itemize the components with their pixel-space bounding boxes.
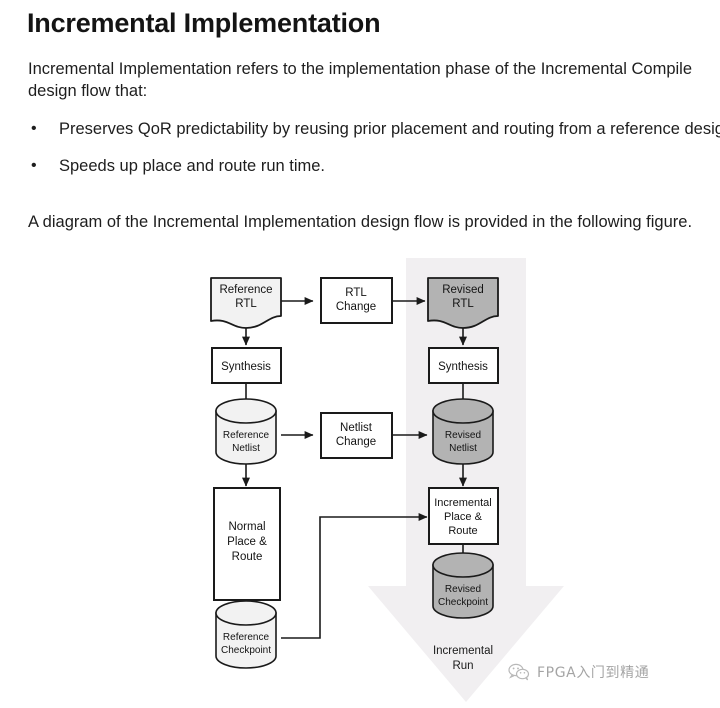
node-label-line1: Reference (223, 430, 270, 441)
node-label-line2: RTL (235, 298, 257, 310)
node-reference-checkpoint[interactable]: Reference Checkpoint (216, 601, 276, 668)
watermark: FPGA入门到精通 (508, 662, 649, 682)
node-label-line1: Reference (223, 632, 270, 643)
node-label-line2: Place & (444, 511, 483, 523)
node-label-line2: RTL (452, 298, 474, 310)
node-label-line1: RTL (345, 287, 367, 299)
node-label-line3: Route (232, 551, 263, 563)
list-item: • Preserves QoR predictability by reusin… (28, 118, 720, 140)
node-synthesis-right[interactable]: Synthesis (429, 348, 498, 383)
bullet-marker-icon: • (31, 155, 37, 177)
node-label-line1: Revised (442, 284, 484, 296)
flow-diagram: Reference RTL RTL Change Revised RTL Syn… (0, 258, 720, 708)
node-label-line1: Synthesis (221, 361, 271, 373)
node-label-line1: Reference (219, 284, 272, 296)
node-incremental-place-and-route[interactable]: Incremental Place & Route (429, 488, 498, 544)
intro-paragraph: Incremental Implementation refers to the… (28, 58, 720, 102)
page-title: Incremental Implementation (27, 8, 380, 39)
band-caption-line2: Run (452, 660, 473, 672)
closing-paragraph: A diagram of the Incremental Implementat… (28, 211, 720, 233)
node-label-line2: Change (336, 301, 376, 313)
node-label-line2: Netlist (232, 443, 260, 454)
node-label-line1: Normal (228, 521, 265, 533)
node-label-line2: Checkpoint (221, 645, 271, 656)
node-label-line3: Route (448, 525, 477, 537)
list-item: • Speeds up place and route run time. (28, 155, 720, 177)
node-reference-rtl[interactable]: Reference RTL (211, 278, 281, 328)
bullet-marker-icon: • (31, 118, 37, 140)
bullet-text: Preserves QoR predictability by reusing … (59, 118, 720, 140)
node-label-line2: Netlist (449, 443, 477, 454)
watermark-text: FPGA入门到精通 (537, 662, 649, 682)
node-synthesis-left[interactable]: Synthesis (212, 348, 281, 383)
node-label-line1: Synthesis (438, 361, 488, 373)
node-label-line2: Place & (227, 536, 267, 548)
node-label-line1: Incremental (434, 497, 491, 509)
node-rtl-change[interactable]: RTL Change (321, 278, 392, 323)
band-caption-line1: Incremental (433, 645, 493, 657)
node-label-line1: Revised (445, 584, 481, 595)
node-reference-netlist[interactable]: Reference Netlist (216, 399, 276, 464)
node-normal-place-and-route[interactable]: Normal Place & Route (214, 488, 280, 600)
node-label-line1: Netlist (340, 422, 373, 434)
bullet-text: Speeds up place and route run time. (59, 155, 720, 177)
wechat-icon (508, 663, 530, 681)
node-label-line2: Change (336, 436, 376, 448)
node-revised-netlist[interactable]: Revised Netlist (433, 399, 493, 464)
page-root: Incremental Implementation Incremental I… (0, 0, 720, 708)
node-label-line2: Checkpoint (438, 597, 488, 608)
node-revised-checkpoint[interactable]: Revised Checkpoint (433, 553, 493, 618)
node-netlist-change[interactable]: Netlist Change (321, 413, 392, 458)
node-label-line1: Revised (445, 430, 481, 441)
bullet-list: • Preserves QoR predictability by reusin… (28, 118, 720, 192)
